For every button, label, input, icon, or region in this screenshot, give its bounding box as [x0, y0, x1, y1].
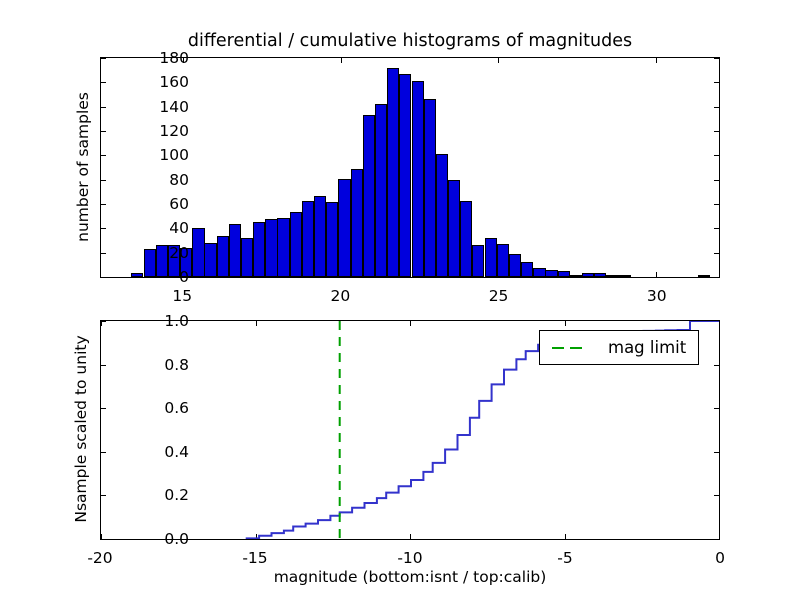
- xtick-label: 20: [331, 287, 351, 305]
- histogram-bar: [545, 270, 557, 277]
- axis-tick: [714, 58, 719, 59]
- ytick-label: 180: [159, 49, 195, 67]
- histogram-bar: [399, 74, 411, 277]
- histogram-bar: [448, 180, 460, 277]
- top-panel-ytick-labels: 020406080100120140160180: [101, 58, 195, 277]
- histogram-bar: [375, 104, 387, 277]
- histogram-bar: [253, 222, 265, 277]
- histogram-bar: [509, 254, 521, 277]
- xtick-label: -10: [397, 549, 422, 567]
- histogram-bar: [570, 275, 582, 277]
- histogram-bar: [363, 115, 375, 277]
- axis-tick: [714, 155, 719, 156]
- top-panel-xtick-labels: 15202530: [100, 284, 720, 306]
- ytick-label: 160: [159, 73, 195, 91]
- histogram-bar: [436, 154, 448, 277]
- histogram-bar: [338, 179, 350, 277]
- xtick-label: 0: [715, 549, 725, 567]
- histogram-bar: [424, 99, 436, 277]
- top-panel-axes: 020406080100120140160180 number of sampl…: [100, 57, 720, 278]
- xtick-label: 30: [647, 287, 667, 305]
- top-panel-ylabel: number of samples: [74, 47, 92, 287]
- histogram-bar: [521, 262, 533, 277]
- histogram-bar: [387, 68, 399, 277]
- ytick-label: 120: [159, 122, 195, 140]
- histogram-bar: [485, 238, 497, 277]
- ytick-label: 0.8: [164, 356, 195, 374]
- axis-tick: [714, 253, 719, 254]
- axis-tick: [714, 228, 719, 229]
- bottom-panel-xlabel: magnitude (bottom:isnt / top:calib): [100, 568, 720, 586]
- axis-tick: [714, 82, 719, 83]
- axis-tick: [498, 58, 499, 63]
- histogram-bar: [606, 275, 618, 277]
- histogram-bar: [698, 275, 710, 277]
- xtick-label: -15: [242, 549, 267, 567]
- axis-tick: [714, 180, 719, 181]
- bottom-panel-axes: 0.00.20.40.60.81.0 Nsample scaled to uni…: [100, 320, 720, 540]
- histogram-bar: [351, 169, 363, 277]
- bottom-panel-ytick-labels: 0.00.20.40.60.81.0: [101, 321, 195, 539]
- ytick-label: 1.0: [164, 312, 195, 330]
- histogram-bar: [558, 271, 570, 277]
- axis-tick: [714, 204, 719, 205]
- ytick-label: 80: [169, 171, 195, 189]
- histogram-bar: [290, 212, 302, 277]
- histogram-bar: [618, 275, 630, 277]
- histogram-bar: [582, 273, 594, 277]
- page-title: differential / cumulative histograms of …: [100, 31, 720, 51]
- ytick-label: 100: [159, 146, 195, 164]
- histogram-bar: [460, 201, 472, 277]
- histogram-bar: [204, 243, 216, 277]
- xtick-label: 15: [172, 287, 192, 305]
- ytick-label: 60: [169, 195, 195, 213]
- ytick-label: 140: [159, 98, 195, 116]
- figure-canvas: differential / cumulative histograms of …: [0, 0, 800, 600]
- histogram-bar: [314, 196, 326, 277]
- histogram-bar: [277, 218, 289, 277]
- histogram-bar: [229, 224, 241, 277]
- ytick-label: 0.2: [164, 486, 195, 504]
- histogram-bar: [302, 201, 314, 277]
- legend[interactable]: mag limit: [539, 330, 699, 365]
- xtick-label: -20: [87, 549, 112, 567]
- ytick-label: 0.6: [164, 399, 195, 417]
- xtick-label: -5: [557, 549, 572, 567]
- axis-tick: [714, 107, 719, 108]
- legend-item-label: mag limit: [608, 338, 686, 357]
- axis-tick: [341, 58, 342, 63]
- axis-tick: [714, 131, 719, 132]
- histogram-bar: [472, 245, 484, 277]
- axis-tick: [656, 272, 657, 277]
- histogram-bar: [412, 81, 424, 277]
- ytick-label: 40: [169, 219, 195, 237]
- histogram-bar: [326, 202, 338, 277]
- histogram-bar: [533, 268, 545, 277]
- bottom-panel-ylabel: Nsample scaled to unity: [72, 299, 90, 559]
- histogram-bar: [241, 238, 253, 277]
- histogram-bar: [497, 244, 509, 277]
- ytick-label: 0.4: [164, 443, 195, 461]
- ytick-label: 20: [169, 244, 195, 262]
- histogram-bar: [217, 236, 229, 277]
- histogram-bar: [265, 219, 277, 277]
- bottom-panel-xtick-labels: -20-15-10-50: [100, 546, 720, 568]
- axis-tick: [656, 58, 657, 63]
- xtick-label: 25: [489, 287, 509, 305]
- dashed-line-icon: [550, 341, 594, 355]
- histogram-bar: [594, 273, 606, 277]
